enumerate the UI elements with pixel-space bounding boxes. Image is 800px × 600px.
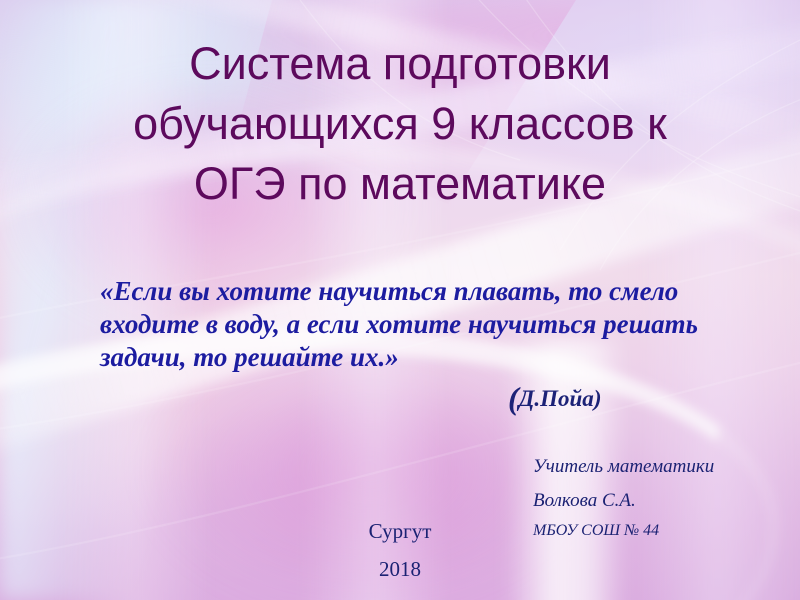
- author-organization: МБОУ СОШ № 44: [533, 518, 793, 544]
- slide-content: Система подготовки обучающихся 9 классов…: [0, 0, 800, 600]
- page-title: Система подготовки обучающихся 9 классов…: [40, 34, 760, 214]
- attribution-open-paren: (: [508, 380, 519, 416]
- author-role: Учитель математики: [533, 450, 793, 484]
- title-line-2: обучающихся 9 классов к: [40, 94, 760, 154]
- quote-line-3: задачи, то решайте их.»: [100, 341, 780, 374]
- quote-line-1: «Если вы хотите научиться плавать, то см…: [100, 275, 780, 308]
- attribution-author-name: Д.Пойа: [519, 386, 594, 411]
- author-credits: Учитель математики Волкова С.А. МБОУ СОШ…: [533, 450, 793, 544]
- quote-attribution: (Д.Пойа): [508, 386, 601, 412]
- city-name: Сургут: [300, 512, 500, 550]
- quotation: «Если вы хотите научиться плавать, то см…: [100, 275, 780, 374]
- year: 2018: [300, 550, 500, 588]
- title-line-3: ОГЭ по математике: [40, 154, 760, 214]
- title-line-1: Система подготовки: [40, 34, 760, 94]
- author-name: Волкова С.А.: [533, 484, 793, 518]
- place-and-year: Сургут 2018: [300, 512, 500, 588]
- presentation-title-slide: Система подготовки обучающихся 9 классов…: [0, 0, 800, 600]
- quote-line-2: входите в воду, а если хотите научиться …: [100, 308, 780, 341]
- attribution-close-paren: ): [594, 386, 602, 411]
